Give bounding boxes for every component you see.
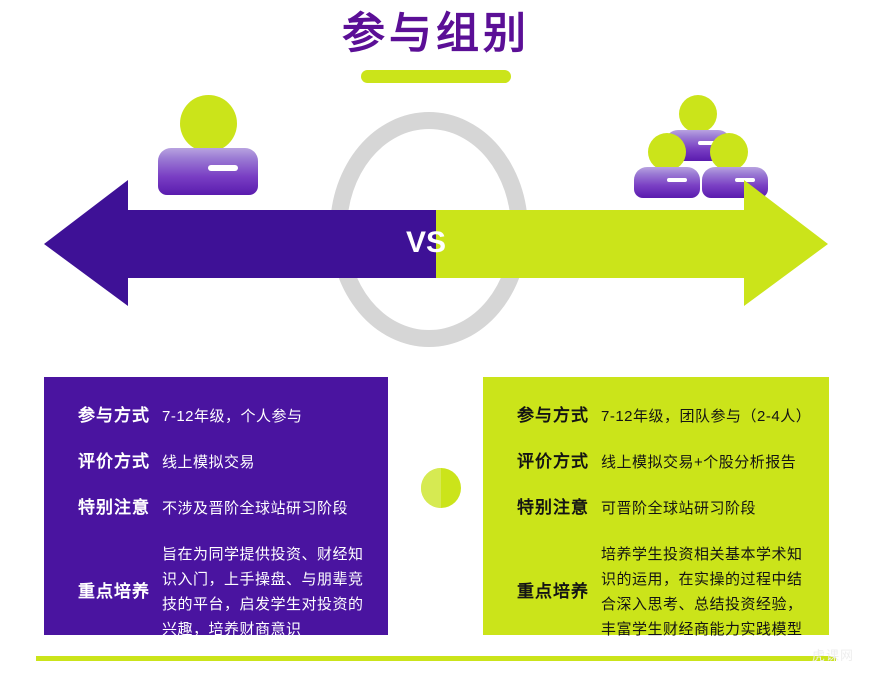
trading-group-card: 参与方式 7-12年级，个人参与 评价方式 线上模拟交易 特别注意 不涉及晋阶全…	[44, 377, 388, 635]
vs-label: VS	[406, 227, 446, 259]
card-row: 特别注意 不涉及晋阶全球站研习阶段	[54, 487, 374, 529]
row-key: 参与方式	[54, 404, 162, 428]
row-key: 参与方式	[493, 404, 601, 428]
person-head-left	[648, 133, 686, 171]
person-head	[180, 95, 237, 152]
row-value: 培养学生投资相关基本学术知识的运用，在实操的过程中结合深入思考、总结投资经验，丰…	[601, 542, 815, 642]
row-value: 可晋阶全球站研习阶段	[601, 496, 815, 521]
person-body-dash	[208, 165, 238, 171]
row-key: 评价方式	[54, 450, 162, 474]
row-key: 评价方式	[493, 450, 601, 474]
card-divider-circle-half	[421, 468, 441, 508]
row-key: 重点培养	[493, 580, 601, 604]
card-row: 评价方式 线上模拟交易+个股分析报告	[493, 441, 815, 483]
card-row: 评价方式 线上模拟交易	[54, 441, 374, 483]
person-head-right	[710, 133, 748, 171]
card-row: 参与方式 7-12年级，团队参与（2-4人）	[493, 395, 815, 437]
row-value: 线上模拟交易+个股分析报告	[601, 450, 815, 475]
footer-rule	[36, 656, 836, 661]
right-arrow-shape	[436, 180, 828, 306]
card-row: 特别注意 可晋阶全球站研习阶段	[493, 487, 815, 529]
card-row: 重点培养 旨在为同学提供投资、财经知识入门，上手操盘、与朋辈竞技的平台，启发学生…	[54, 533, 374, 651]
row-value: 线上模拟交易	[162, 450, 374, 475]
watermark-text: 虎课网	[812, 648, 854, 664]
row-key: 特别注意	[493, 496, 601, 520]
title-underline-bar	[361, 70, 511, 83]
strategy-group-card: 参与方式 7-12年级，团队参与（2-4人） 评价方式 线上模拟交易+个股分析报…	[483, 377, 829, 635]
row-value: 旨在为同学提供投资、财经知识入门，上手操盘、与朋辈竞技的平台，启发学生对投资的兴…	[162, 542, 374, 642]
card-divider-circle	[421, 468, 461, 508]
row-key: 重点培养	[54, 580, 162, 604]
page-title-block: 参与组别	[0, 8, 872, 83]
row-value: 不涉及晋阶全球站研习阶段	[162, 496, 374, 521]
person-head-top	[679, 95, 717, 133]
row-key: 特别注意	[54, 496, 162, 520]
row-value: 7-12年级，个人参与	[162, 404, 374, 429]
page-title: 参与组别	[0, 8, 872, 60]
left-arrow-shape	[44, 180, 436, 306]
card-row: 重点培养 培养学生投资相关基本学术知识的运用，在实操的过程中结合深入思考、总结投…	[493, 533, 815, 651]
card-row: 参与方式 7-12年级，个人参与	[54, 395, 374, 437]
row-value: 7-12年级，团队参与（2-4人）	[601, 404, 815, 429]
